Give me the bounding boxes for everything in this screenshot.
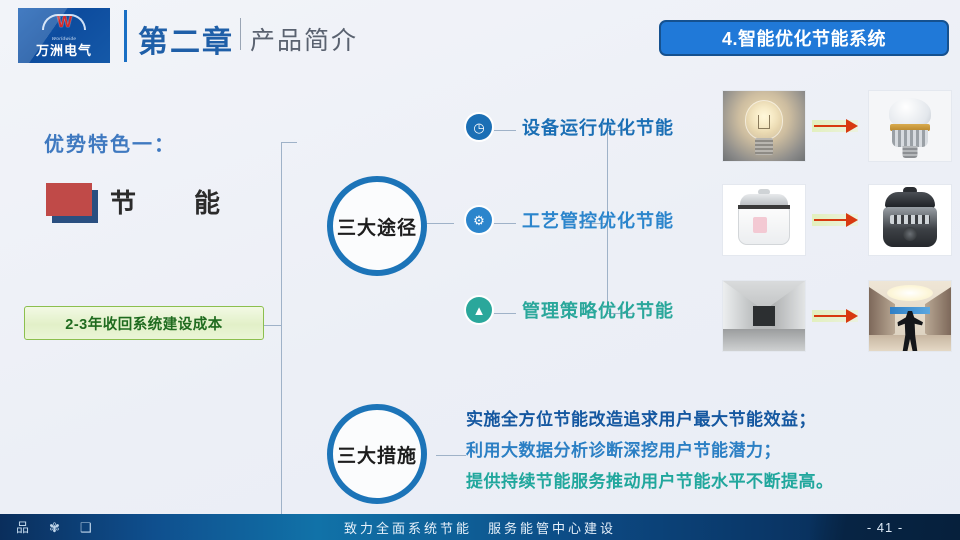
- page-title: 产品简介: [250, 21, 358, 57]
- logo-arc-icon: [42, 14, 86, 30]
- lit-corridor-image: [868, 280, 952, 352]
- branch-item-process-label: 工艺管控优化节能: [522, 207, 674, 233]
- hub-three-paths[interactable]: 三大途径: [327, 176, 427, 276]
- branch-item-equipment[interactable]: ◷ 设备运行优化节能: [466, 114, 674, 140]
- slide-canvas: W Worldwide 万洲电气 第二章 产品简介 4.智能优化节能系统 优势特…: [0, 0, 960, 540]
- measure-line-2: 利用大数据分析诊断深挖用户节能潜力；: [466, 435, 834, 466]
- connector-left-top-tick: [281, 142, 297, 143]
- cost-note-label: 2-3年收回系统建设成本: [65, 313, 222, 334]
- dark-corridor-image: [722, 280, 806, 352]
- connector-hub-paths: [424, 223, 454, 224]
- connector-left-mid-tick: [264, 325, 282, 326]
- branch-item-process[interactable]: ⚙ 工艺管控优化节能: [466, 207, 674, 233]
- feature-heading: 优势特色一：: [44, 128, 176, 157]
- section-banner: 4.智能优化节能系统: [659, 20, 949, 56]
- measure-line-1: 实施全方位节能改造追求用户最大节能效益；: [466, 404, 834, 435]
- clock-icon: ◷: [466, 114, 492, 140]
- page-number: - 41 -: [867, 520, 903, 535]
- process-icon: ⚙: [466, 207, 492, 233]
- hub-three-paths-label: 三大途径: [337, 213, 417, 240]
- footer-bar: 品 ✾ ❑ 致力全面系统节能 服务能管中心建设 - 41 -: [0, 514, 960, 540]
- hub-three-measures[interactable]: 三大措施: [327, 404, 427, 504]
- strategy-icon: ▲: [466, 297, 492, 323]
- connector-hub-measures: [436, 455, 466, 456]
- photo-pair-lighting: [722, 90, 952, 162]
- company-logo: W Worldwide 万洲电气: [18, 8, 110, 63]
- photo-pair-cooker: [722, 184, 952, 256]
- arrow-icon: [812, 306, 862, 326]
- logo-w-icon: W: [38, 13, 90, 35]
- cost-note-box: 2-3年收回系统建设成本: [24, 306, 264, 340]
- measure-line-3: 提供持续节能服务推动用户节能水平不断提高。: [466, 466, 834, 497]
- section-banner-label: 4.智能优化节能系统: [722, 25, 886, 51]
- logo-letter: W: [38, 13, 90, 33]
- logo-subtext: Worldwide: [52, 36, 77, 41]
- header-separator: [240, 18, 241, 50]
- arrow-icon: [812, 116, 862, 136]
- logo-company-name: 万洲电气: [36, 43, 92, 58]
- chapter-label: 第二章: [138, 17, 234, 61]
- page-number-box: - 41 -: [810, 514, 960, 540]
- branch-item-strategy-label: 管理策略优化节能: [522, 297, 674, 323]
- pressure-cooker-image: [868, 184, 952, 256]
- hub-three-measures-label: 三大措施: [337, 441, 417, 468]
- header-divider: [124, 10, 127, 62]
- decor-square-front: [46, 183, 92, 216]
- arrow-icon: [812, 210, 862, 230]
- branch-item-strategy[interactable]: ▲ 管理策略优化节能: [466, 297, 674, 323]
- branch-item-equipment-label: 设备运行优化节能: [522, 114, 674, 140]
- rice-cooker-image: [722, 184, 806, 256]
- led-bulb-image: [868, 90, 952, 162]
- keyword-label: 节 能: [110, 183, 222, 220]
- measures-text-block: 实施全方位节能改造追求用户最大节能效益； 利用大数据分析诊断深挖用户节能潜力； …: [466, 404, 834, 497]
- incandescent-bulb-image: [722, 90, 806, 162]
- photo-pair-corridor: [722, 280, 952, 352]
- connector-left-vertical: [281, 142, 282, 514]
